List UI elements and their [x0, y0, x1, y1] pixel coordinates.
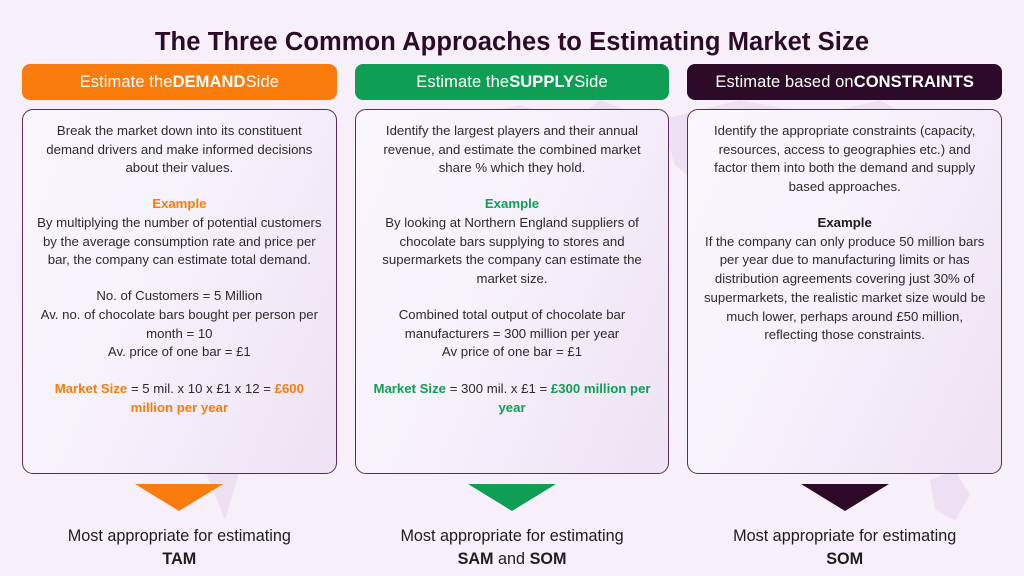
header-prefix-constraints: Estimate based on [715, 73, 853, 92]
assumption-demand-2: Av. price of one bar = £1 [36, 343, 323, 362]
footer-bold-demand: TAM [162, 550, 196, 568]
down-arrow-icon-constraints [801, 484, 889, 511]
example-label-supply: Example [369, 195, 656, 214]
description-supply: Identify the largest players and their a… [369, 122, 656, 178]
result-label-supply: Market Size [373, 381, 446, 396]
infographic-root: The Three Common Approaches to Estimatin… [0, 0, 1024, 576]
example-text-supply: By looking at Northern England suppliers… [369, 214, 656, 289]
header-suffix-demand: Side [246, 73, 279, 92]
down-arrow-icon-supply [468, 484, 556, 511]
header-emphasis-supply: SUPPLY [509, 73, 574, 92]
column-supply: Estimate the SUPPLY Side Identify the la… [355, 64, 670, 474]
down-arrow-icon-demand [135, 484, 223, 511]
header-prefix-demand: Estimate the [80, 73, 173, 92]
column-constraints: Estimate based on CONSTRAINTS Identify t… [687, 64, 1002, 474]
footer-text-supply: Most appropriate for estimating SAM and … [400, 525, 623, 572]
footer-bold-supply: SAM [458, 550, 494, 568]
footer-prefix-constraints: Most appropriate for estimating [733, 527, 956, 545]
header-emphasis-constraints: CONSTRAINTS [854, 73, 974, 92]
result-demand: Market Size = 5 mil. x 10 x £1 x 12 = £6… [36, 379, 323, 417]
header-emphasis-demand: DEMAND [173, 73, 246, 92]
assumption-demand-1: Av. no. of chocolate bars bought per per… [36, 306, 323, 343]
footer-text-constraints: Most appropriate for estimating SOM [733, 525, 956, 572]
card-constraints: Identify the appropriate constraints (ca… [687, 109, 1002, 474]
column-header-supply[interactable]: Estimate the SUPPLY Side [355, 64, 670, 100]
assumption-demand-0: No. of Customers = 5 Million [36, 287, 323, 306]
card-supply: Identify the largest players and their a… [355, 109, 670, 474]
footer-text-demand: Most appropriate for estimating TAM [68, 525, 291, 572]
card-demand: Break the market down into its constitue… [22, 109, 337, 474]
footer-constraints: Most appropriate for estimating SOM [687, 484, 1002, 576]
result-formula-demand: = 5 mil. x 10 x £1 x 12 = [127, 381, 274, 396]
footer-prefix-supply: Most appropriate for estimating [400, 527, 623, 545]
columns-container: Estimate the DEMAND Side Break the marke… [22, 64, 1002, 474]
example-label-demand: Example [36, 195, 323, 214]
footer-bold-constraints: SOM [826, 550, 863, 568]
description-constraints: Identify the appropriate constraints (ca… [701, 122, 988, 197]
result-supply: Market Size = 300 mil. x £1 = £300 milli… [369, 379, 656, 417]
result-label-demand: Market Size [55, 381, 128, 396]
header-suffix-supply: Side [574, 73, 607, 92]
assumption-supply-0: Combined total output of chocolate bar m… [369, 306, 656, 343]
footer-bold2-supply: SOM [530, 550, 567, 568]
example-text-constraints: If the company can only produce 50 milli… [701, 233, 988, 345]
example-label-constraints: Example [701, 214, 988, 233]
example-text-demand: By multiplying the number of potential c… [36, 214, 323, 270]
footer-prefix-demand: Most appropriate for estimating [68, 527, 291, 545]
footers-container: Most appropriate for estimating TAM Most… [22, 474, 1002, 576]
footer-mid-supply: and [494, 550, 530, 568]
footer-demand: Most appropriate for estimating TAM [22, 484, 337, 576]
column-demand: Estimate the DEMAND Side Break the marke… [22, 64, 337, 474]
header-prefix-supply: Estimate the [416, 73, 509, 92]
column-header-demand[interactable]: Estimate the DEMAND Side [22, 64, 337, 100]
footer-supply: Most appropriate for estimating SAM and … [355, 484, 670, 576]
result-formula-supply: = 300 mil. x £1 = [446, 381, 551, 396]
assumption-supply-1: Av price of one bar = £1 [369, 343, 656, 362]
column-header-constraints[interactable]: Estimate based on CONSTRAINTS [687, 64, 1002, 100]
page-title: The Three Common Approaches to Estimatin… [22, 0, 1002, 64]
description-demand: Break the market down into its constitue… [36, 122, 323, 178]
